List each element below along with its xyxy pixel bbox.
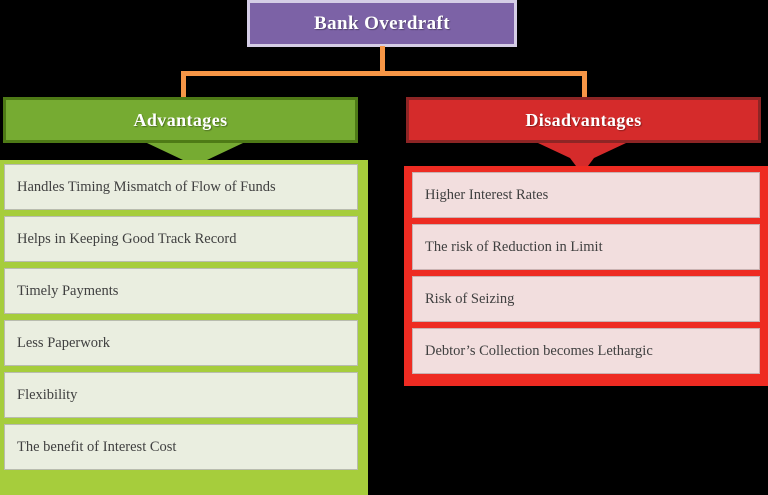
header-disadvantages-label: Disadvantages xyxy=(525,110,641,131)
connector-stem xyxy=(380,46,385,73)
connector-horizontal xyxy=(181,71,587,76)
list-item: The benefit of Interest Cost xyxy=(4,424,358,470)
panel-advantages: Handles Timing Mismatch of Flow of Funds… xyxy=(0,160,368,495)
root-node-label: Bank Overdraft xyxy=(314,13,450,35)
diagram-canvas: Bank Overdraft Advantages Disadvantages … xyxy=(0,0,768,489)
root-node-bank-overdraft: Bank Overdraft xyxy=(247,0,517,47)
connector-right-drop xyxy=(582,71,587,98)
header-disadvantages: Disadvantages xyxy=(406,97,761,143)
list-item: Less Paperwork xyxy=(4,320,358,366)
list-item: Timely Payments xyxy=(4,268,358,314)
panel-disadvantages: Higher Interest Rates The risk of Reduct… xyxy=(404,166,768,386)
list-item: Higher Interest Rates xyxy=(412,172,760,218)
header-advantages: Advantages xyxy=(3,97,358,143)
list-item: Risk of Seizing xyxy=(412,276,760,322)
list-item: Debtor’s Collection becomes Lethargic xyxy=(412,328,760,374)
list-item: Flexibility xyxy=(4,372,358,418)
list-item: Helps in Keeping Good Track Record xyxy=(4,216,358,262)
header-advantages-label: Advantages xyxy=(133,110,227,131)
connector-left-drop xyxy=(181,71,186,98)
list-item: Handles Timing Mismatch of Flow of Funds xyxy=(4,164,358,210)
list-item: The risk of Reduction in Limit xyxy=(412,224,760,270)
